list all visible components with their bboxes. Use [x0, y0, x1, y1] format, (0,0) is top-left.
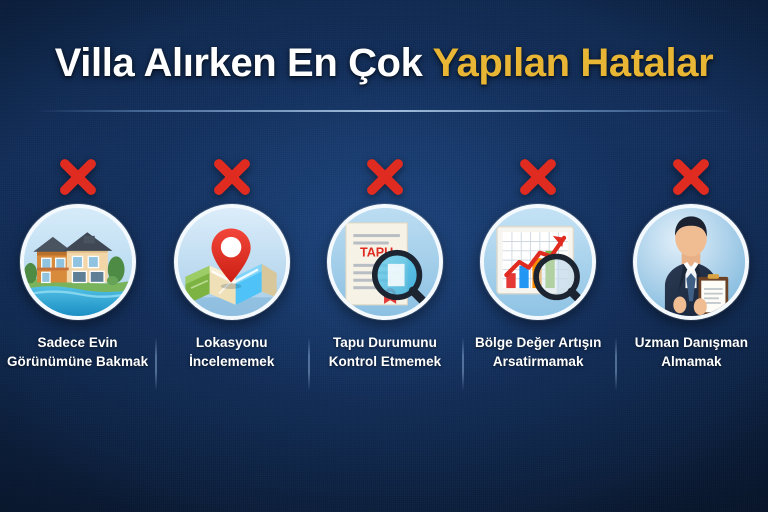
list-item[interactable]: Bölge Değer Artışın Arsatirmamak	[462, 152, 615, 400]
caption-line-2: Görünümüne Bakmak	[7, 353, 148, 372]
mistake-list: Sadece Evin Görünümüne Bakmak	[0, 152, 768, 400]
item-caption: Bölge Değer Artışın Arsatirmamak	[462, 334, 615, 371]
consultant-clipboard-icon	[633, 204, 749, 320]
caption-line-2: Arsatirmamak	[469, 353, 608, 372]
growth-chart-magnifier-icon	[480, 204, 596, 320]
item-caption: Lokasyonu İncelememek	[155, 334, 308, 371]
villa-house-icon	[20, 204, 136, 320]
x-mark-icon	[364, 156, 406, 198]
infographic-poster: Villa Alırken En Çok Yapılan Hatalar	[0, 0, 768, 512]
x-mark-icon	[670, 156, 712, 198]
page-title: Villa Alırken En Çok Yapılan Hatalar	[0, 42, 768, 84]
x-mark-icon	[57, 156, 99, 198]
title-primary: Villa Alırken En Çok	[55, 41, 423, 85]
caption-line-2: Almamak	[622, 353, 761, 372]
caption-line-1: Sadece Evin	[7, 334, 148, 353]
list-item[interactable]: TAPU Tapu Durumunu Kontrol Etmemek	[308, 152, 461, 400]
list-item[interactable]: Sadece Evin Görünümüne Bakmak	[0, 152, 155, 400]
caption-line-1: Bölge Değer Artışın	[469, 334, 608, 353]
item-caption: Sadece Evin Görünümüne Bakmak	[0, 334, 155, 371]
caption-line-2: İncelememek	[162, 353, 301, 372]
caption-line-2: Kontrol Etmemek	[315, 353, 454, 372]
list-item[interactable]: Lokasyonu İncelememek	[155, 152, 308, 400]
caption-line-1: Tapu Durumunu	[315, 334, 454, 353]
title-divider	[38, 110, 730, 112]
item-caption: Tapu Durumunu Kontrol Etmemek	[308, 334, 461, 371]
list-item[interactable]: Uzman Danışman Almamak	[615, 152, 768, 400]
caption-line-1: Lokasyonu	[162, 334, 301, 353]
x-mark-icon	[211, 156, 253, 198]
x-mark-icon	[517, 156, 559, 198]
title-highlight: Yapılan Hatalar	[432, 41, 713, 85]
caption-line-1: Uzman Danışman	[622, 334, 761, 353]
item-caption: Uzman Danışman Almamak	[615, 334, 768, 371]
map-location-pin-icon	[174, 204, 290, 320]
deed-document-magnifier-icon: TAPU	[327, 204, 443, 320]
